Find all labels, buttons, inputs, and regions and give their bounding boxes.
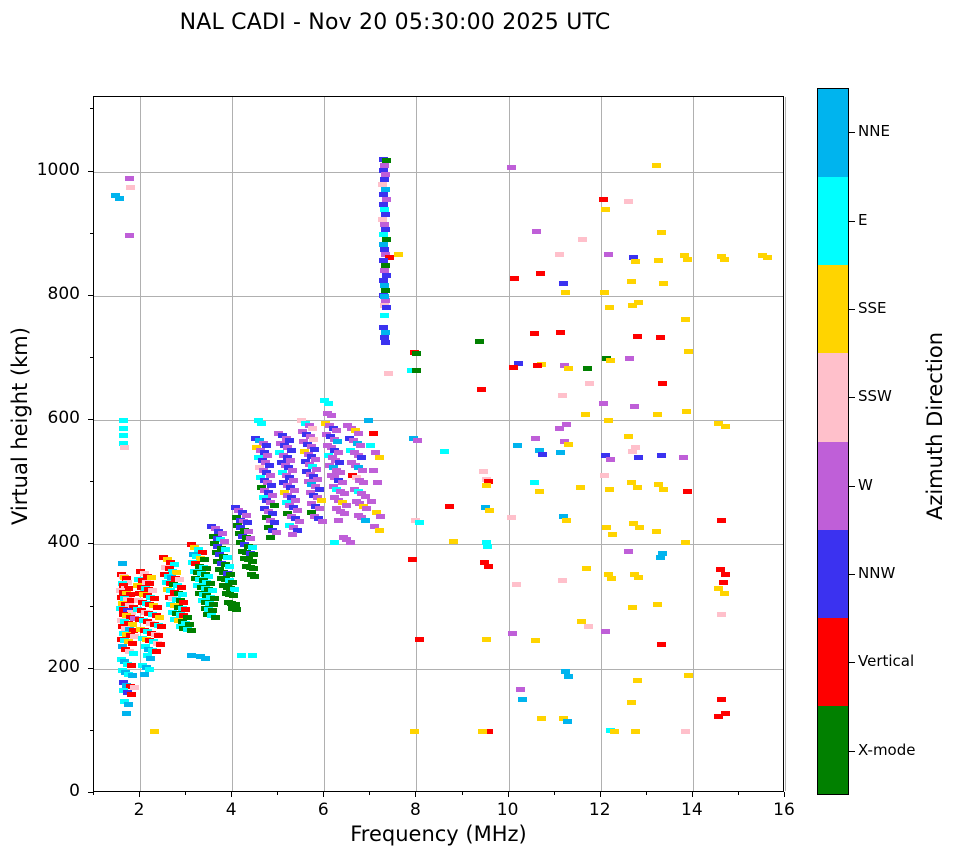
x-tick [323, 792, 324, 797]
x-tick-label: 10 [478, 800, 538, 820]
x-axis-title: Frequency (MHz) [93, 822, 784, 846]
scatter-point [359, 480, 368, 485]
scatter-point [682, 409, 691, 414]
scatter-point [531, 436, 540, 441]
scatter-point [120, 445, 129, 450]
x-minor-tick [277, 792, 278, 795]
scatter-point [338, 480, 347, 485]
scatter-point [659, 487, 668, 492]
scatter-point [628, 449, 637, 454]
scatter-point [657, 642, 666, 647]
scatter-point [604, 252, 613, 257]
scatter-point [375, 528, 384, 533]
colorbar-tick [849, 132, 855, 133]
scatter-point [295, 519, 304, 524]
colorbar-label-vertical: Vertical [858, 652, 914, 670]
scatter-point [509, 365, 518, 370]
y-axis-title: Virtual height (km) [8, 76, 32, 776]
scatter-point [656, 555, 665, 560]
scatter-point [315, 506, 324, 511]
scatter-point [333, 439, 342, 444]
scatter-point [721, 572, 730, 577]
scatter-point [232, 607, 241, 612]
scatter-point [119, 433, 128, 438]
scatter-point [324, 401, 333, 406]
scatter-point [683, 489, 692, 494]
scatter-point [507, 165, 516, 170]
scatter-point [415, 637, 424, 642]
scatter-point [125, 233, 134, 238]
x-tick [415, 792, 416, 797]
x-tick-label: 4 [201, 800, 261, 820]
x-minor-tick [93, 792, 94, 795]
scatter-point [633, 678, 642, 683]
scatter-point [624, 434, 633, 439]
colorbar-tick [849, 309, 855, 310]
x-minor-tick [185, 792, 186, 795]
scatter-point [201, 656, 210, 661]
scatter-point [129, 651, 138, 656]
scatter-point [315, 487, 324, 492]
x-minor-tick [462, 792, 463, 795]
colorbar-tick [849, 662, 855, 663]
colorbar-label-sse: SSE [858, 299, 887, 317]
scatter-point [475, 339, 484, 344]
y-minor-tick [90, 730, 93, 731]
colorbar-band-vertical [818, 618, 848, 706]
scatter-point [719, 580, 728, 585]
scatter-point [658, 381, 667, 386]
scatter-point [512, 582, 521, 587]
scatter-point [564, 366, 573, 371]
scatter-point [125, 176, 134, 181]
scatter-point [412, 368, 421, 373]
scatter-point [375, 455, 384, 460]
scatter-point [287, 448, 296, 453]
scatter-point [607, 576, 616, 581]
scatter-point [538, 452, 547, 457]
scatter-point [369, 468, 378, 473]
scatter-point [118, 561, 127, 566]
scatter-point [518, 697, 527, 702]
x-tick-label: 14 [662, 800, 722, 820]
grid-line-vertical [785, 97, 786, 791]
scatter-point [535, 489, 544, 494]
scatter-point [334, 518, 343, 523]
scatter-point [187, 628, 196, 633]
x-tick [231, 792, 232, 797]
scatter-point [532, 229, 541, 234]
scatter-point [346, 540, 355, 545]
scatter-point [327, 413, 336, 418]
scatter-point [583, 366, 592, 371]
scatter-point [445, 504, 454, 509]
scatter-point [415, 520, 424, 525]
x-minor-tick [738, 792, 739, 795]
scatter-point [555, 252, 564, 257]
scatter-point [600, 290, 609, 295]
scatter-point [653, 602, 662, 607]
x-tick-label: 12 [570, 800, 630, 820]
scatter-point [308, 426, 317, 431]
scatter-point [681, 729, 690, 734]
scatter-point [340, 491, 349, 496]
scatter-point [127, 663, 136, 668]
scatter-point [376, 514, 385, 519]
y-tick [88, 792, 93, 793]
scatter-point [563, 719, 572, 724]
scatter-point [608, 532, 617, 537]
scatter-point [581, 412, 590, 417]
x-tick-label: 16 [754, 800, 814, 820]
x-tick [784, 792, 785, 797]
colorbar-tick [849, 397, 855, 398]
scatter-point [578, 237, 587, 242]
scatter-point [558, 393, 567, 398]
scatter-point [624, 199, 633, 204]
scatter-point [288, 532, 297, 537]
scatter-point [652, 163, 661, 168]
scatter-point [654, 258, 663, 263]
scatter-point [354, 431, 363, 436]
scatter-point [408, 557, 417, 562]
scatter-point [684, 349, 693, 354]
scatter-point [717, 697, 726, 702]
x-tick-label: 6 [293, 800, 353, 820]
scatter-point [679, 455, 688, 460]
scatter-point [482, 483, 491, 488]
scatter-point [530, 331, 539, 336]
scatter-point [223, 555, 232, 560]
scatter-point [556, 330, 565, 335]
scatter-point [412, 351, 421, 356]
scatter-point [531, 638, 540, 643]
scatter-point [340, 511, 349, 516]
scatter-point [250, 574, 259, 579]
scatter-point [211, 615, 220, 620]
scatter-point [483, 544, 492, 549]
scatter-point [155, 615, 164, 620]
scatter-point [599, 401, 608, 406]
scatter-point [717, 612, 726, 617]
colorbar-band-w [818, 442, 848, 530]
colorbar-title: Azimuth Direction [923, 266, 947, 586]
scatter-point [556, 450, 565, 455]
scatter-point [156, 642, 165, 647]
scatter-point [150, 596, 159, 601]
scatter-point [634, 455, 643, 460]
colorbar-band-sse [818, 265, 848, 353]
scatter-point [384, 371, 393, 376]
y-tick [88, 668, 93, 669]
scatter-point [507, 515, 516, 520]
scatter-point [561, 290, 570, 295]
scatter-point [564, 442, 573, 447]
colorbar-tick [849, 486, 855, 487]
scatter-point [128, 641, 137, 646]
y-minor-tick [90, 108, 93, 109]
scatter-point [381, 340, 390, 345]
scatter-point [601, 629, 610, 634]
scatter-point [248, 653, 257, 658]
scatter-point [633, 485, 642, 490]
scatter-point [605, 305, 614, 310]
scatter-point [720, 257, 729, 262]
y-tick [88, 295, 93, 296]
scatter-point [484, 564, 493, 569]
scatter-point [516, 687, 525, 692]
scatter-point [628, 303, 637, 308]
scatter-point [246, 536, 255, 541]
scatter-point [606, 457, 615, 462]
scatter-point [122, 711, 131, 716]
y-minor-tick [90, 606, 93, 607]
x-tick [508, 792, 509, 797]
scatter-point [582, 566, 591, 571]
scatter-point [154, 633, 163, 638]
scatter-point [157, 624, 166, 629]
scatter-point [225, 564, 234, 569]
scatter-point [605, 487, 614, 492]
scatter-point [627, 279, 636, 284]
colorbar-band-nne [818, 89, 848, 177]
scatter-point [625, 356, 634, 361]
scatter-point [237, 653, 246, 658]
scatter-point [559, 281, 568, 286]
colorbar-band-e [818, 177, 848, 265]
scatter-point [533, 363, 542, 368]
scatter-point [562, 518, 571, 523]
x-minor-tick [646, 792, 647, 795]
colorbar [817, 88, 849, 795]
scatter-point [681, 540, 690, 545]
scatter-point [628, 605, 637, 610]
scatter-point [631, 729, 640, 734]
scatter-point [652, 529, 661, 534]
scatter-point [358, 468, 367, 473]
scatter-point [128, 673, 137, 678]
scatter-point [584, 624, 593, 629]
scatter-point [330, 540, 339, 545]
colorbar-tick [849, 751, 855, 752]
scatter-point [369, 431, 378, 436]
scatter-point [627, 700, 636, 705]
scatter-point [537, 716, 546, 721]
scatter-points-layer [94, 97, 783, 791]
scatter-point [599, 197, 608, 202]
scatter-point [606, 358, 615, 363]
x-tick [139, 792, 140, 797]
scatter-point [373, 480, 382, 485]
scatter-point [610, 729, 619, 734]
scatter-point [555, 426, 564, 431]
x-tick-label: 8 [385, 800, 445, 820]
scatter-point [714, 714, 723, 719]
scatter-point [585, 381, 594, 386]
scatter-point [382, 305, 391, 310]
scatter-point [604, 418, 613, 423]
scatter-point [657, 453, 666, 458]
colorbar-label-nne: NNE [858, 122, 890, 140]
scatter-point [684, 673, 693, 678]
scatter-point [634, 575, 643, 580]
scatter-point [126, 185, 135, 190]
scatter-point [342, 503, 351, 508]
colorbar-band-ssw [818, 353, 848, 441]
scatter-point [653, 412, 662, 417]
y-minor-tick [90, 357, 93, 358]
scatter-point [717, 518, 726, 523]
scatter-point [119, 426, 128, 431]
scatter-point [293, 508, 302, 513]
scatter-point [763, 255, 772, 260]
page-title: NAL CADI - Nov 20 05:30:00 2025 UTC [0, 10, 790, 35]
scatter-point [631, 259, 640, 264]
scatter-point [257, 421, 266, 426]
scatter-point [140, 672, 149, 677]
scatter-point [146, 656, 155, 661]
y-tick [88, 543, 93, 544]
scatter-point [127, 692, 136, 697]
scatter-point [558, 578, 567, 583]
scatter-point [366, 443, 375, 448]
scatter-point [576, 485, 585, 490]
scatter-point [410, 729, 419, 734]
scatter-point [508, 631, 517, 636]
scatter-point [656, 335, 665, 340]
scatter-point [635, 525, 644, 530]
scatter-point [510, 276, 519, 281]
scatter-point [152, 649, 161, 654]
scatter-point [721, 424, 730, 429]
scatter-point [380, 313, 389, 318]
scatter-point [200, 557, 209, 562]
scatter-point [187, 653, 196, 658]
scatter-point [362, 506, 371, 511]
x-minor-tick [554, 792, 555, 795]
scatter-point [600, 473, 609, 478]
y-minor-tick [90, 481, 93, 482]
colorbar-label-nnw: NNW [858, 564, 895, 582]
scatter-point [485, 508, 494, 513]
scatter-point [449, 539, 458, 544]
scatter-point [317, 498, 326, 503]
scatter-point [266, 535, 275, 540]
scatter-point [624, 549, 633, 554]
scatter-point [601, 207, 610, 212]
x-tick-label: 2 [109, 800, 169, 820]
scatter-point [440, 449, 449, 454]
scatter-point [479, 469, 488, 474]
plot-area [93, 96, 784, 792]
scatter-point [478, 729, 487, 734]
scatter-point [356, 443, 365, 448]
scatter-point [332, 428, 341, 433]
scatter-point [630, 404, 639, 409]
y-tick-label: 0 [0, 781, 80, 801]
scatter-point [482, 637, 491, 642]
scatter-point [364, 418, 373, 423]
scatter-point [124, 702, 133, 707]
scatter-point [530, 480, 539, 485]
colorbar-tick [849, 221, 855, 222]
scatter-point [357, 455, 366, 460]
scatter-point [361, 518, 370, 523]
scatter-point [720, 591, 729, 596]
scatter-point [477, 387, 486, 392]
colorbar-band-x-mode [818, 706, 848, 794]
colorbar-label-ssw: SSW [858, 387, 892, 405]
scatter-point [513, 443, 522, 448]
y-tick [88, 419, 93, 420]
x-tick [692, 792, 693, 797]
x-minor-tick [369, 792, 370, 795]
scatter-point [318, 519, 327, 524]
scatter-point [229, 593, 238, 598]
scatter-point [153, 605, 162, 610]
scatter-point [119, 418, 128, 423]
scatter-point [602, 525, 611, 530]
scatter-point [150, 729, 159, 734]
colorbar-label-e: E [858, 211, 867, 229]
scatter-point [270, 503, 279, 508]
scatter-point [413, 438, 422, 443]
y-minor-tick [90, 233, 93, 234]
scatter-point [657, 230, 666, 235]
scatter-point [394, 252, 403, 257]
scatter-point [367, 499, 376, 504]
colorbar-tick [849, 574, 855, 575]
scatter-point [633, 334, 642, 339]
colorbar-label-w: W [858, 476, 873, 494]
scatter-point [249, 566, 258, 571]
scatter-point [681, 317, 690, 322]
scatter-point [380, 294, 389, 299]
scatter-point [564, 674, 573, 679]
scatter-point [659, 281, 668, 286]
colorbar-label-x-mode: X-mode [858, 741, 915, 759]
colorbar-band-nnw [818, 530, 848, 618]
scatter-point [683, 257, 692, 262]
scatter-point [536, 271, 545, 276]
y-tick [88, 171, 93, 172]
scatter-point [115, 196, 124, 201]
x-tick [600, 792, 601, 797]
